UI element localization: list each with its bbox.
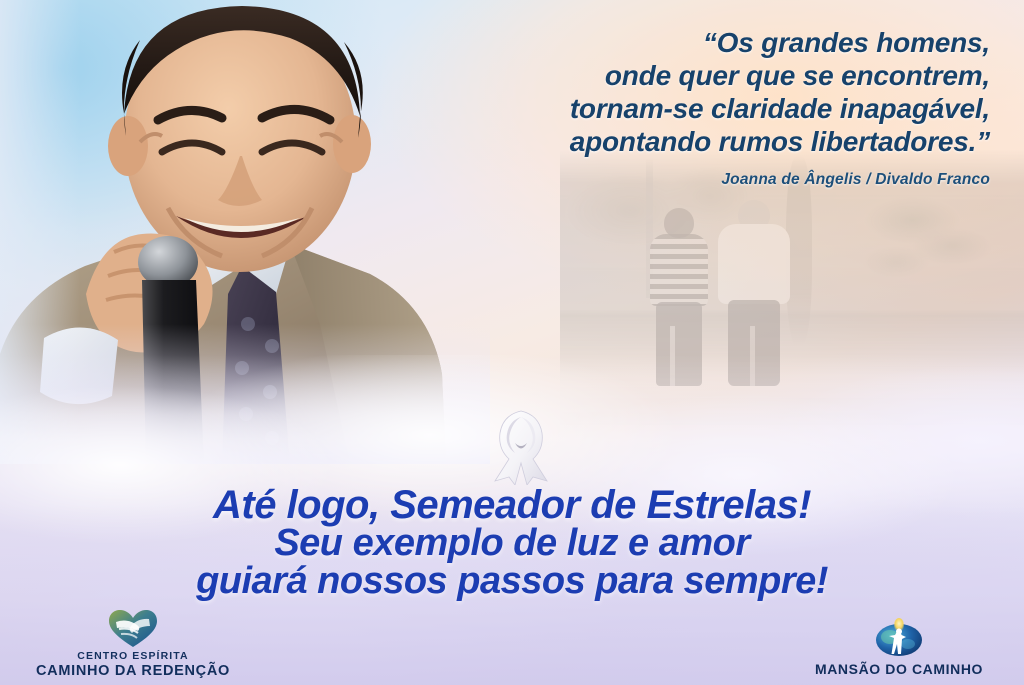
quote-line-1: “Os grandes homens, <box>430 26 990 59</box>
headline-line-3: guiará nossos passos para sempre! <box>0 562 1024 600</box>
globe-figure-light-icon <box>874 616 924 658</box>
headline-line-1: Até logo, Semeador de Estrelas! <box>0 486 1024 524</box>
quote-line-2: onde quer que se encontrem, <box>430 59 990 92</box>
quote-line-4: apontando rumos libertadores.” <box>430 125 990 158</box>
figure-head <box>896 629 902 635</box>
quote-block: “Os grandes homens, onde quer que se enc… <box>430 26 990 189</box>
logo-right-main-label: MANSÃO DO CAMINHO <box>784 661 1014 677</box>
logo-centro-espirita: CENTRO ESPÍRITA CAMINHO DA REDENÇÃO <box>8 609 258 679</box>
headline-block: Até logo, Semeador de Estrelas! Seu exem… <box>0 486 1024 600</box>
logo-mansao-do-caminho: MANSÃO DO CAMINHO <box>784 616 1014 677</box>
hands-heart-icon <box>107 609 159 649</box>
logo-left-main-label: CAMINHO DA REDENÇÃO <box>8 663 258 679</box>
globe-highlight <box>901 639 915 649</box>
quote-attribution: Joanna de Ângelis / Divaldo Franco <box>430 171 990 189</box>
walker-torso <box>718 224 790 304</box>
logo-left-sub-label: CENTRO ESPÍRITA <box>8 650 258 662</box>
walker-torso <box>650 234 708 306</box>
headline-line-2: Seu exemplo de luz e amor <box>0 524 1024 562</box>
white-ribbon-icon <box>487 407 555 485</box>
ear-right <box>333 115 371 173</box>
quote-line-3: tornam-se claridade inapagável, <box>430 92 990 125</box>
ear-left <box>108 116 148 176</box>
memorial-poster: “Os grandes homens, onde quer que se enc… <box>0 0 1024 685</box>
